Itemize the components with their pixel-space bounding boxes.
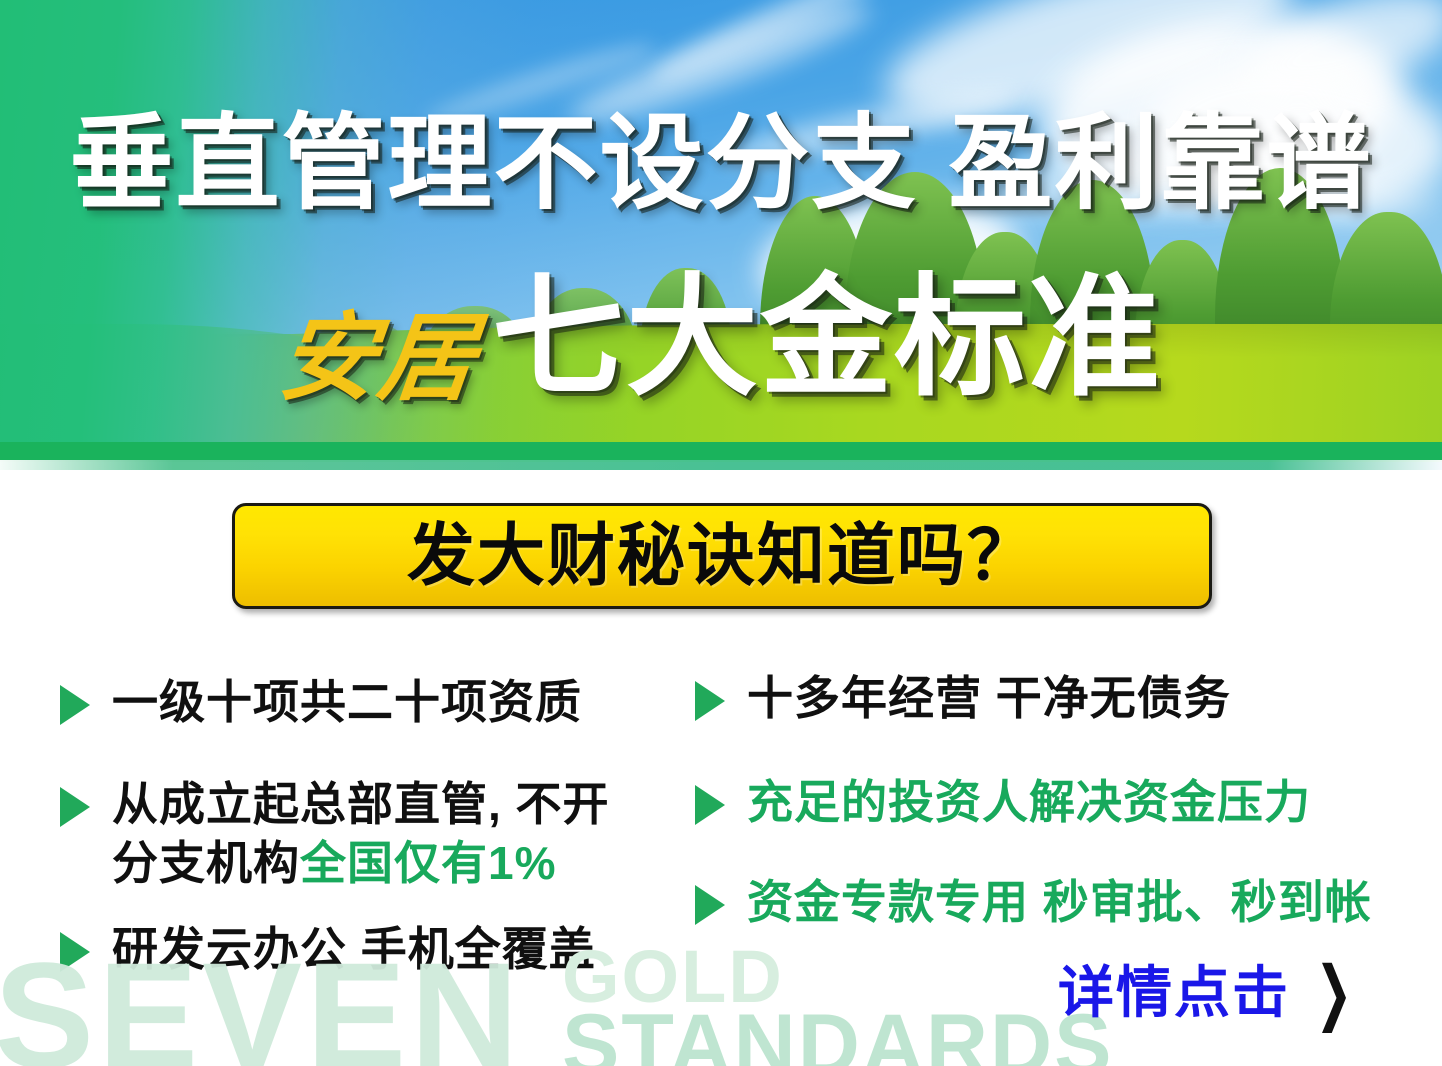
feature-label-line2: 分支机构 (112, 837, 300, 889)
feature-label: 一级十项共二十项资质 (112, 673, 582, 732)
feature-label: 从成立起总部直管, 不开 分支机构全国仅有1% (112, 775, 610, 893)
hero-bottom-fade (0, 460, 1442, 470)
feature-label-line1: 从成立起总部直管, 不开 (112, 778, 610, 830)
headline-question-banner[interactable]: 发大财秘诀知道吗？ (232, 503, 1212, 609)
triangle-bullet-icon (60, 787, 90, 827)
details-cta-label: 详情点击 (1058, 965, 1290, 1021)
headline-question-text: 发大财秘诀知道吗？ (407, 522, 1037, 590)
triangle-bullet-icon (695, 885, 725, 925)
feature-item: 资金专款专用 秒审批、秒到帐 (695, 873, 1372, 932)
hero-headline: 垂直管理不设分支 盈利靠谱 (0, 112, 1442, 216)
hero-section: 垂直管理不设分支 盈利靠谱 安居七大金标准 (0, 0, 1442, 470)
feature-label: 研发云办公 手机全覆盖 (112, 920, 596, 979)
feature-item: 一级十项共二十项资质 (60, 673, 582, 732)
feature-label: 十多年经营 干净无债务 (747, 669, 1231, 728)
feature-label: 充足的投资人解决资金压力 (747, 773, 1311, 832)
feature-label-highlight: 全国仅有1% (300, 837, 556, 889)
triangle-bullet-icon (695, 785, 725, 825)
feature-item: 研发云办公 手机全覆盖 (60, 920, 596, 979)
watermark-standards: STANDARDS (562, 1002, 1114, 1066)
triangle-bullet-icon (60, 932, 90, 972)
triangle-bullet-icon (695, 681, 725, 721)
details-cta-link[interactable]: 详情点击 ❯ (1058, 965, 1356, 1021)
feature-item: 十多年经营 干净无债务 (695, 669, 1231, 728)
chevron-right-icon: ❯ (1315, 958, 1352, 1028)
feature-item: 充足的投资人解决资金压力 (695, 773, 1311, 832)
feature-list-section: 一级十项共二十项资质 从成立起总部直管, 不开 分支机构全国仅有1% 研发云办公… (0, 655, 1442, 985)
feature-item: 从成立起总部直管, 不开 分支机构全国仅有1% (60, 775, 610, 893)
hero-subheadline-row: 安居七大金标准 (0, 272, 1442, 407)
hero-brand-name: 安居 (275, 311, 483, 407)
triangle-bullet-icon (60, 685, 90, 725)
advertisement-banner: 垂直管理不设分支 盈利靠谱 安居七大金标准 发大财秘诀知道吗？ 一级十项共二十项… (0, 0, 1442, 1066)
hero-bottom-strip (0, 442, 1442, 462)
feature-label: 资金专款专用 秒审批、秒到帐 (747, 873, 1372, 932)
hero-subheadline: 七大金标准 (492, 272, 1162, 404)
